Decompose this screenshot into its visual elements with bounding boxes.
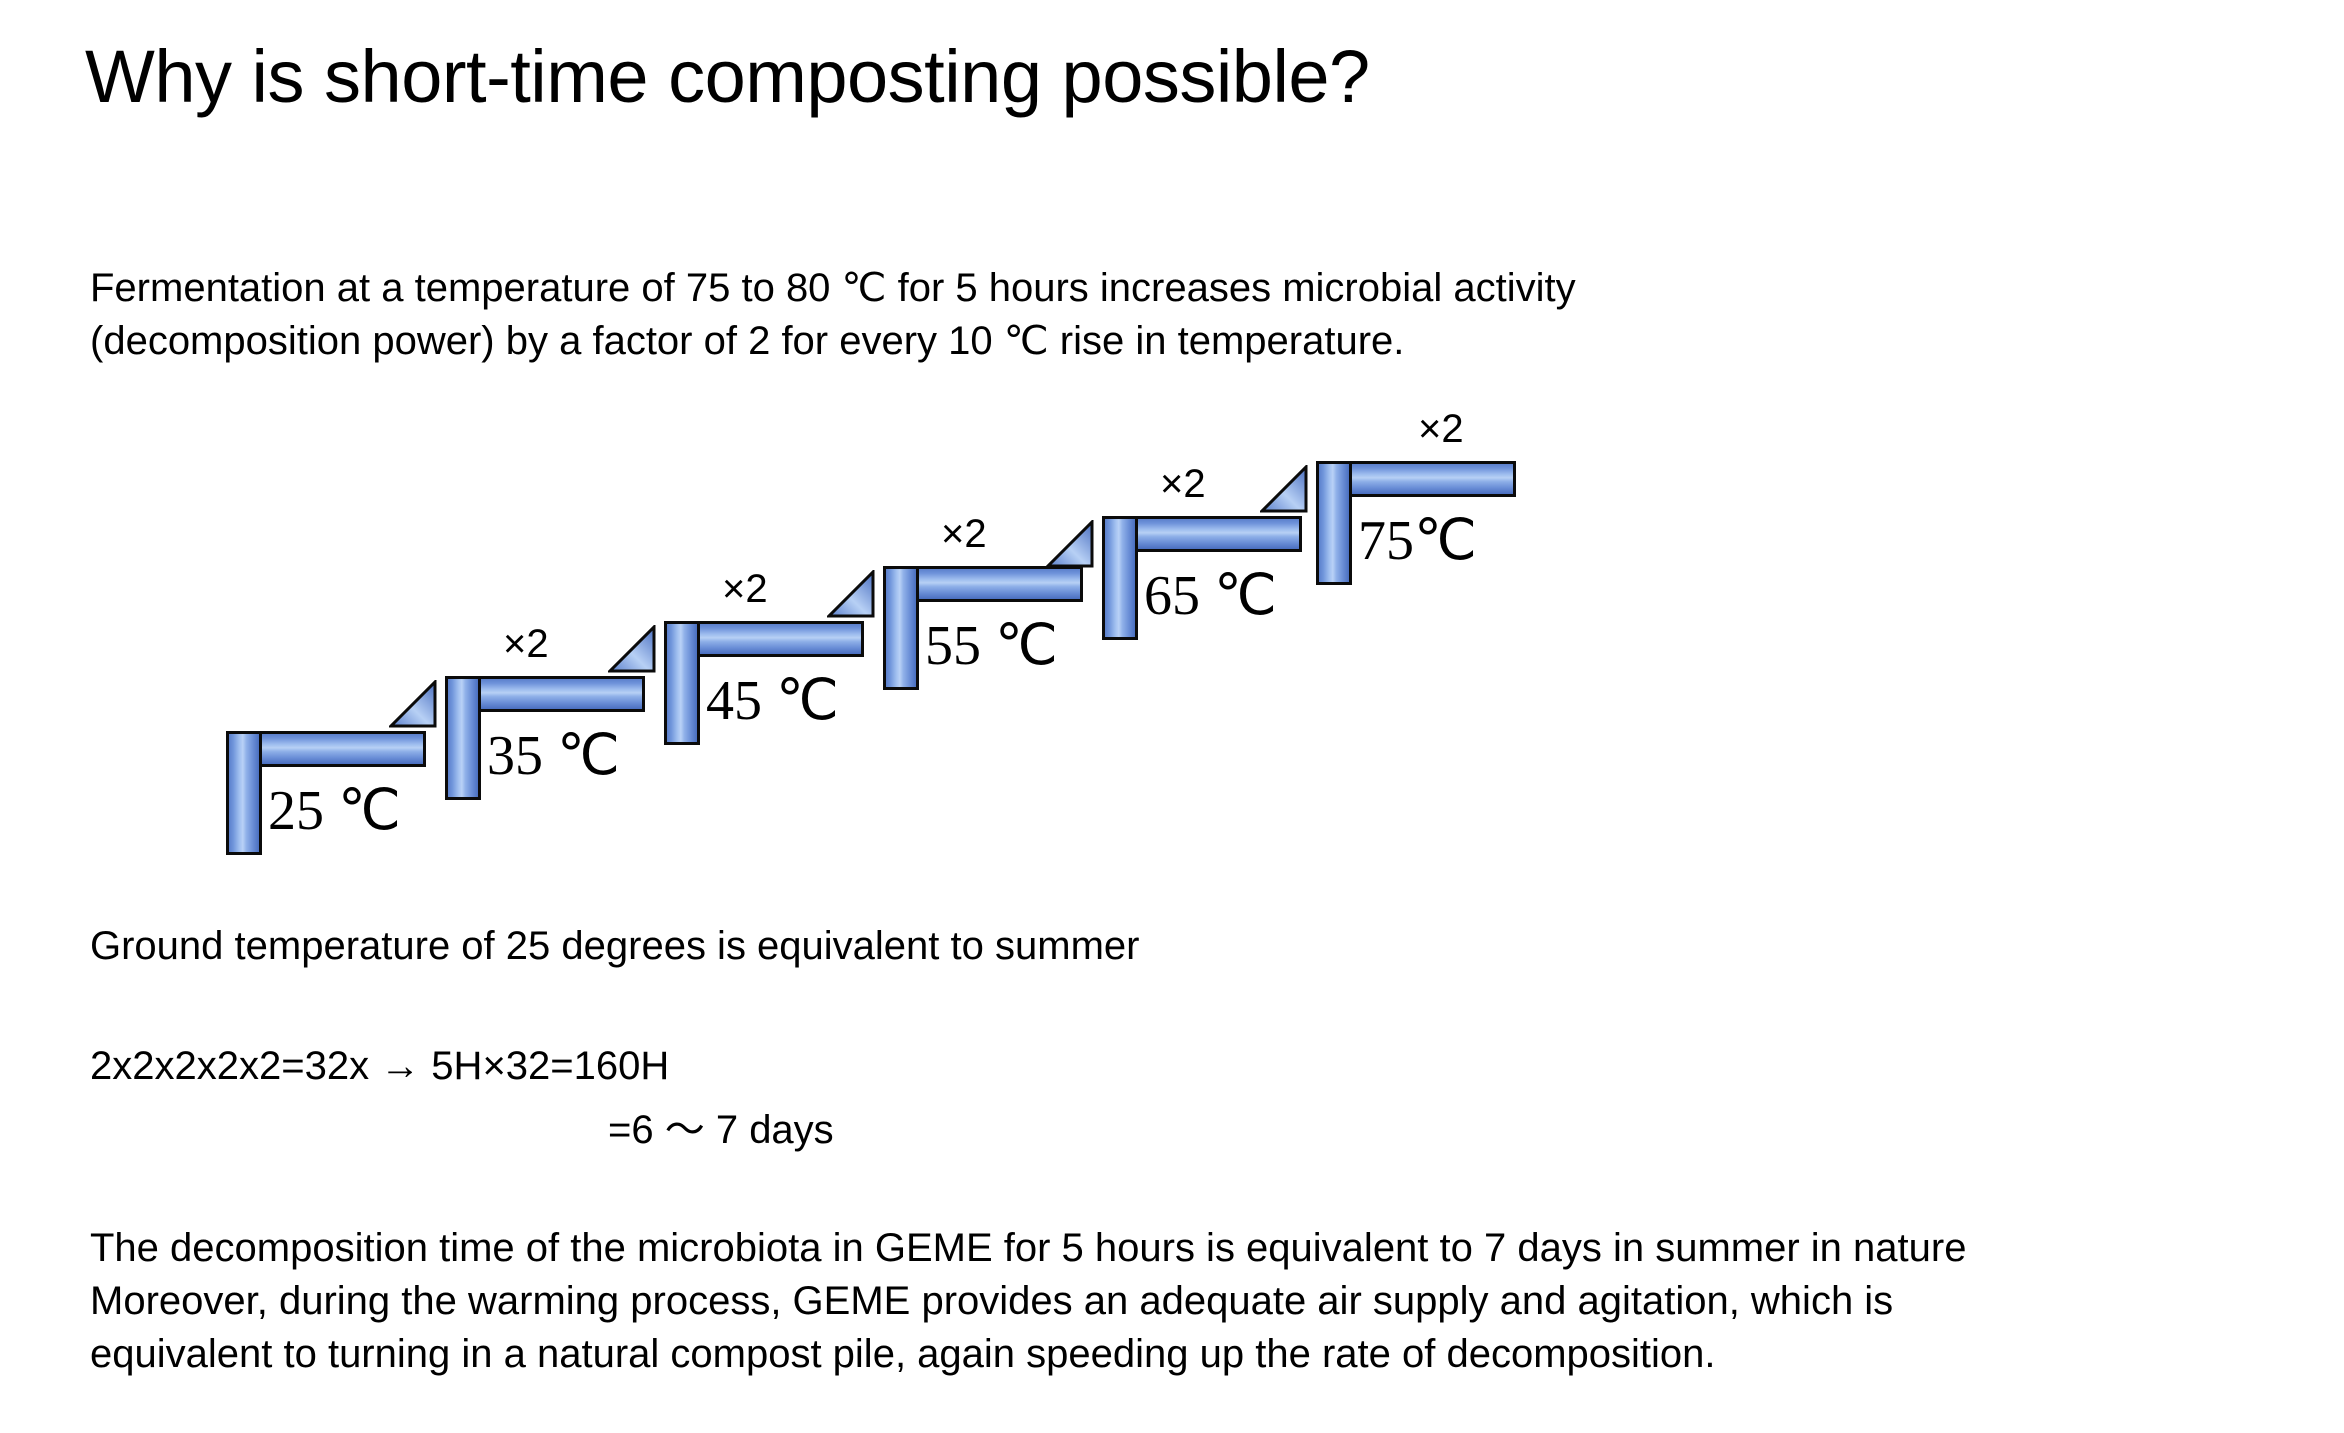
step-1-vertical-arm	[226, 731, 262, 855]
closing-paragraph: The decomposition time of the microbiota…	[90, 1222, 2310, 1382]
step-2-vertical-arm	[445, 676, 481, 800]
step-2-arrowhead-icon	[389, 680, 435, 726]
step-1-temperature-label: 25 ℃	[268, 783, 401, 839]
staircase-diagram: 25 ℃ ×2 35 ℃	[0, 0, 2344, 1433]
intro-paragraph: Fermentation at a temperature of 75 to 8…	[90, 262, 2090, 368]
step-2-temperature-label: 35 ℃	[487, 728, 620, 784]
math-expression-line-2: =6 ～ 7 days	[608, 1104, 1808, 1157]
step-4-temperature-label: 55 ℃	[925, 618, 1058, 674]
step-3-vertical-arm	[664, 621, 700, 745]
step-6-vertical-arm	[1316, 461, 1352, 585]
step-3-temperature-label: 45 ℃	[706, 673, 839, 729]
step-3-arrowhead-icon	[608, 625, 654, 671]
step-6-temperature-label: 75℃	[1358, 513, 1477, 569]
step-5-arrowhead-icon	[1046, 520, 1092, 566]
step-2-multiplier-label: ×2	[503, 624, 549, 664]
step-5-multiplier-label: ×2	[1160, 464, 1206, 504]
step-5-vertical-arm	[1102, 516, 1138, 640]
step-5-temperature-label: 65 ℃	[1144, 568, 1277, 624]
page-title: Why is short-time composting possible?	[85, 38, 1370, 116]
step-4-vertical-arm	[883, 566, 919, 690]
step-3-multiplier-label: ×2	[722, 569, 768, 609]
step-6-multiplier-label: ×2	[1418, 409, 1464, 449]
step-4-arrowhead-icon	[827, 570, 873, 616]
math-expression-line-1: 2x2x2x2x2=32x → 5H×32=160H	[90, 1040, 1490, 1093]
step-4-multiplier-label: ×2	[941, 514, 987, 554]
ground-temperature-note: Ground temperature of 25 degrees is equi…	[90, 920, 2090, 973]
step-6-arrowhead-icon	[1260, 465, 1306, 511]
